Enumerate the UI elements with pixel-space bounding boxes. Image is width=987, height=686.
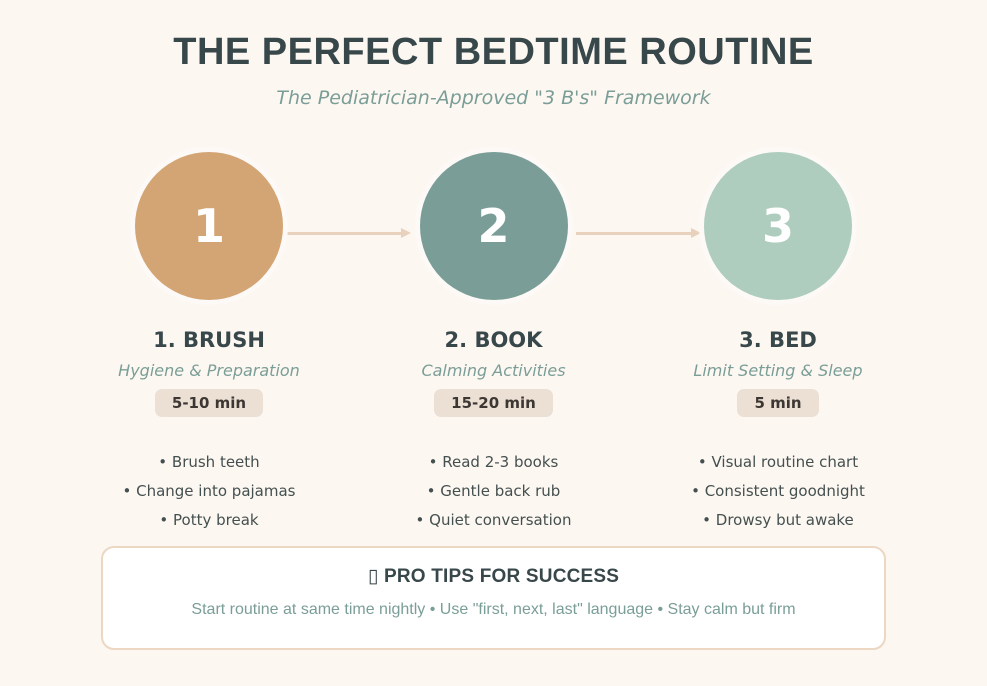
pro-tips-body: Start routine at same time nightly • Use…: [103, 601, 884, 619]
step-title: 1. BRUSH: [153, 328, 265, 352]
step-number-circle: 1: [135, 152, 283, 300]
missing-glyph-icon: ▯: [368, 565, 379, 587]
list-item: • Read 2-3 books: [416, 448, 572, 477]
step-bullet-list: • Read 2-3 books • Gentle back rub • Qui…: [416, 448, 572, 535]
list-item: • Potty break: [122, 506, 295, 535]
step-title: 2. BOOK: [445, 328, 543, 352]
page-header: THE PERFECT BEDTIME ROUTINE The Pediatri…: [0, 0, 987, 110]
step-card-bed: 3 3. BED Limit Setting & Sleep 5 min • V…: [673, 152, 883, 535]
page-subtitle: The Pediatrician-Approved "3 B's" Framew…: [0, 86, 987, 111]
pro-tips-title: ▯ PRO TIPS FOR SUCCESS: [103, 565, 884, 588]
list-item: • Visual routine chart: [691, 448, 865, 477]
pro-tips-card: ▯ PRO TIPS FOR SUCCESS Start routine at …: [101, 546, 886, 650]
step-subtitle: Calming Activities: [421, 361, 565, 380]
step-duration-badge: 5-10 min: [155, 389, 263, 417]
list-item: • Drowsy but awake: [691, 506, 865, 535]
list-item: • Change into pajamas: [122, 477, 295, 506]
step-number-circle: 3: [704, 152, 852, 300]
step-card-brush: 1 1. BRUSH Hygiene & Preparation 5-10 mi…: [104, 152, 314, 535]
step-subtitle: Hygiene & Preparation: [118, 361, 300, 380]
step-bullet-list: • Brush teeth • Change into pajamas • Po…: [122, 448, 295, 535]
step-bullet-list: • Visual routine chart • Consistent good…: [691, 448, 865, 535]
step-duration-badge: 5 min: [737, 389, 818, 417]
list-item: • Consistent goodnight: [691, 477, 865, 506]
step-title: 3. BED: [739, 328, 817, 352]
step-subtitle: Limit Setting & Sleep: [693, 361, 862, 380]
step-number-circle: 2: [420, 152, 568, 300]
step-card-book: 2 2. BOOK Calming Activities 15-20 min •…: [389, 152, 599, 535]
list-item: • Gentle back rub: [416, 477, 572, 506]
list-item: • Brush teeth: [122, 448, 295, 477]
step-duration-badge: 15-20 min: [434, 389, 553, 417]
page-title: THE PERFECT BEDTIME ROUTINE: [0, 30, 987, 76]
pro-tips-title-text: PRO TIPS FOR SUCCESS: [384, 566, 619, 587]
list-item: • Quiet conversation: [416, 506, 572, 535]
steps-container: 1 1. BRUSH Hygiene & Preparation 5-10 mi…: [0, 152, 987, 535]
